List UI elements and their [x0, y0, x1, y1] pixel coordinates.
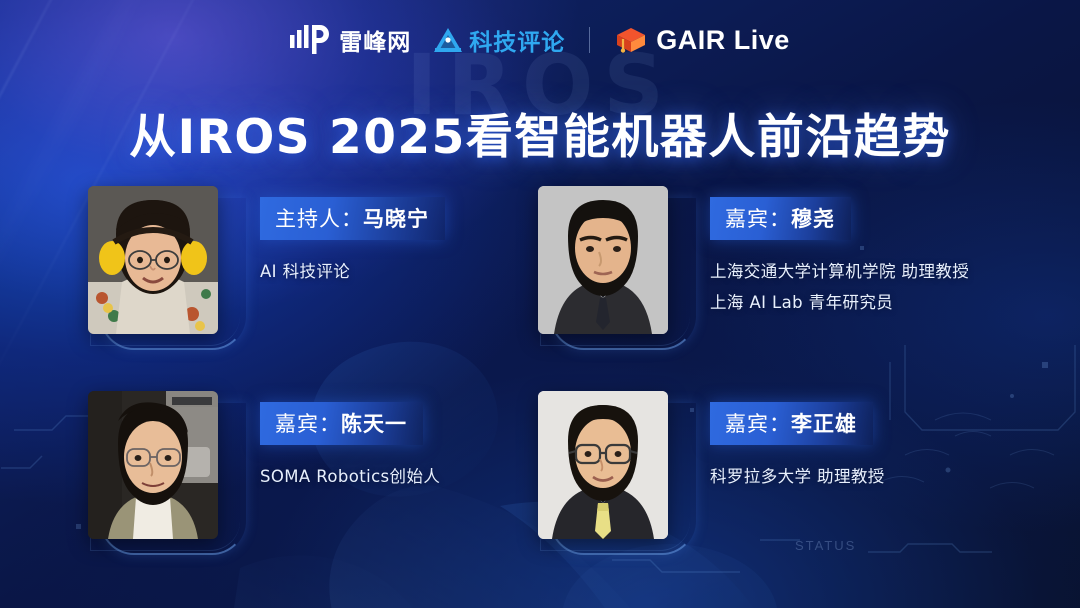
speaker-name-2: 陈天一: [341, 412, 407, 436]
gair-live-logo: GAIR Live: [614, 25, 790, 56]
speaker-affiliation-line: SOMA Robotics创始人: [260, 462, 440, 493]
aitech-review-text: 科技评论: [469, 23, 565, 57]
leifengwang-text: 雷峰网: [339, 23, 411, 57]
speaker-card-0: 主持人：马晓宁 AI 科技评论: [88, 186, 445, 356]
photo-frame-2: [88, 391, 238, 561]
leifeng-mark-icon: [290, 25, 332, 55]
aitech-review-logo: 科技评论: [433, 23, 565, 57]
gair-cap-icon: [614, 25, 648, 55]
photo-frame-0: [88, 186, 238, 356]
speaker-affiliation-line: 上海交通大学计算机学院 助理教授: [710, 257, 969, 288]
page-title: 从IROS 2025看智能机器人前沿趋势: [0, 98, 1080, 167]
avatar-1: [538, 186, 668, 334]
speaker-info-0: 主持人：马晓宁 AI 科技评论: [260, 186, 445, 288]
speaker-role-0: 主持人：: [275, 207, 363, 231]
speaker-affiliations-0: AI 科技评论: [260, 257, 445, 288]
speaker-role-3: 嘉宾：: [725, 412, 791, 436]
avatar-3: [538, 391, 668, 539]
guest-portrait-formal-icon: [538, 186, 668, 334]
speaker-affiliation-line: AI 科技评论: [260, 257, 445, 288]
avatar-0: [88, 186, 218, 334]
speaker-affiliations-2: SOMA Robotics创始人: [260, 462, 440, 493]
guest-portrait-casual-icon: [88, 391, 218, 539]
speaker-badge-1: 嘉宾：穆尧: [710, 197, 851, 240]
photo-frame-3: [538, 391, 688, 561]
speaker-affiliation-line: 上海 AI Lab 青年研究员: [710, 288, 969, 319]
photo-frame-1: [538, 186, 688, 356]
speaker-badge-3: 嘉宾：李正雄: [710, 402, 873, 445]
aitech-triangle-icon: [433, 27, 463, 53]
guest-portrait-glasses-icon: [538, 391, 668, 539]
speaker-name-0: 马晓宁: [363, 207, 429, 231]
brand-logo-bar: 雷峰网 科技评论 GAIR Live: [0, 19, 1080, 61]
speaker-info-1: 嘉宾：穆尧 上海交通大学计算机学院 助理教授 上海 AI Lab 青年研究员: [710, 186, 969, 318]
speaker-card-3: 嘉宾：李正雄 科罗拉多大学 助理教授: [538, 391, 885, 561]
speaker-badge-0: 主持人：马晓宁: [260, 197, 445, 240]
speaker-affiliation-line: 科罗拉多大学 助理教授: [710, 462, 885, 493]
avatar-2: [88, 391, 218, 539]
speaker-badge-2: 嘉宾：陈天一: [260, 402, 423, 445]
logo-divider: [589, 27, 590, 53]
speaker-info-3: 嘉宾：李正雄 科罗拉多大学 助理教授: [710, 391, 885, 493]
speaker-card-2: 嘉宾：陈天一 SOMA Robotics创始人: [88, 391, 440, 561]
speaker-affiliations-1: 上海交通大学计算机学院 助理教授 上海 AI Lab 青年研究员: [710, 257, 969, 318]
speaker-info-2: 嘉宾：陈天一 SOMA Robotics创始人: [260, 391, 440, 493]
speaker-role-2: 嘉宾：: [275, 412, 341, 436]
leifengwang-logo: 雷峰网: [290, 23, 411, 57]
speaker-card-1: 嘉宾：穆尧 上海交通大学计算机学院 助理教授 上海 AI Lab 青年研究员: [538, 186, 969, 356]
gair-live-text: GAIR Live: [656, 25, 790, 56]
speaker-affiliations-3: 科罗拉多大学 助理教授: [710, 462, 885, 493]
speaker-role-1: 嘉宾：: [725, 207, 791, 231]
host-portrait-icon: [88, 186, 218, 334]
speaker-name-3: 李正雄: [791, 412, 857, 436]
speaker-grid: 主持人：马晓宁 AI 科技评论: [0, 186, 1080, 391]
speaker-name-1: 穆尧: [791, 207, 835, 231]
webinar-poster: IROS: [0, 0, 1080, 608]
